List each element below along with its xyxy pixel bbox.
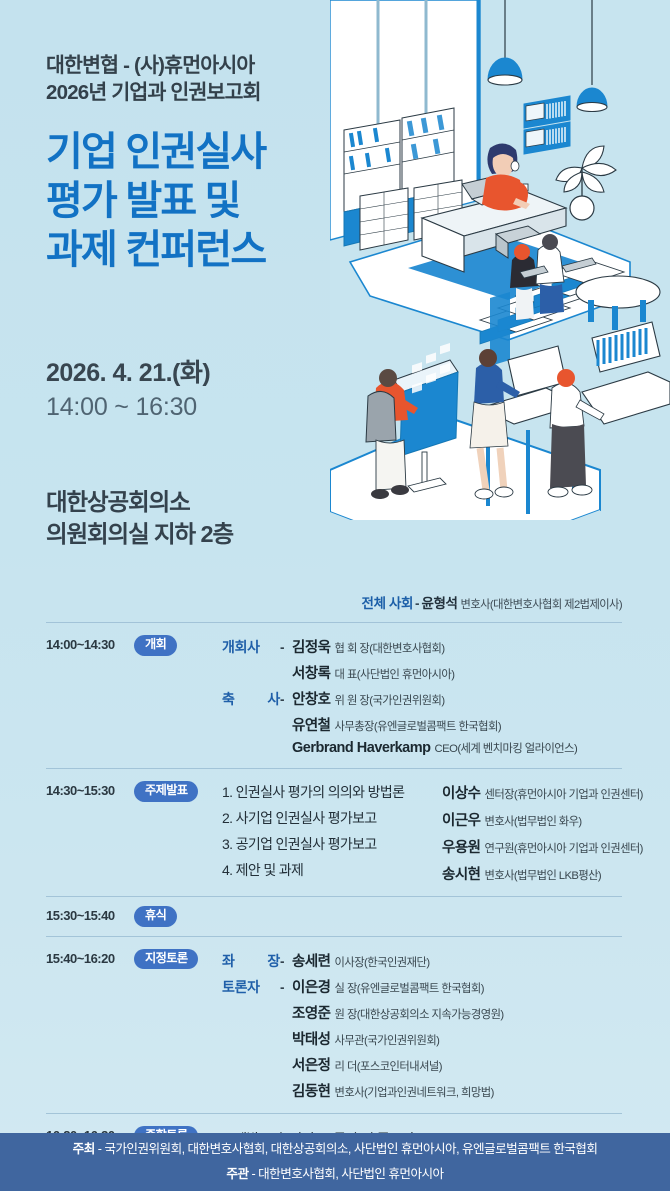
entry-person-name: 서창록 bbox=[292, 662, 331, 683]
list-item: 2. 사기업 인권실사 평가보고 bbox=[222, 808, 442, 828]
entry-person-name: 김동현 bbox=[292, 1080, 331, 1101]
table-row: 14:00~14:30 개회 개회사 - 김정욱 협 회 장(대한변호사협회) … bbox=[46, 623, 622, 768]
entry-role-head: 축 사 bbox=[222, 689, 280, 709]
moderator-role: 변호사(대한변호사협회 제2법제이사) bbox=[458, 599, 622, 611]
entry-person-title: 사무총장(유엔글로벌콤팩트 한국협회) bbox=[331, 718, 502, 734]
entry-person-title: 원 장(대한상공회의소 지속가능경영원) bbox=[331, 1006, 504, 1022]
entry-person-name: 유연철 bbox=[292, 714, 331, 735]
row-time: 14:00~14:30 bbox=[46, 635, 134, 652]
title-line-1: 기업 인권실사 bbox=[46, 128, 376, 177]
row-time: 15:40~16:20 bbox=[46, 949, 134, 966]
table-row: 15:30~15:40 휴식 bbox=[46, 897, 622, 936]
row-badges: 주제발표 bbox=[134, 781, 222, 802]
row-badges: 휴식 bbox=[134, 906, 222, 927]
table-row: 14:30~15:30 주제발표 1. 인권실사 평가의 의의와 방법론 2. … bbox=[46, 769, 622, 896]
title-line-3: 과제 컨퍼런스 bbox=[46, 226, 376, 275]
entry-person-title: 대 표(사단법인 휴먼아시아) bbox=[331, 666, 455, 682]
eyebrow-line-1: 대한변협 - (사)휴먼아시아 bbox=[46, 52, 376, 79]
hero-section: 대한변협 - (사)휴먼아시아 2026년 기업과 인권보고회 기업 인권실사 … bbox=[0, 0, 670, 580]
speaker-role: 변호사(법무법인 LKB평산) bbox=[481, 870, 602, 882]
table-row: 15:40~16:20 지정토론 좌 장 - 송세련 이사장(한국인권재단) 토… bbox=[46, 937, 622, 1113]
organizer-line: 주관 - 대한변호사협회, 사단법인 휴먼아시아 bbox=[226, 1162, 443, 1187]
list-item: 박태성 사무관(국가인권위원회) bbox=[222, 1028, 622, 1049]
speaker-name: 이상수 bbox=[442, 786, 481, 802]
list-item: 이근우변호사(법무법인 화우) bbox=[442, 809, 643, 830]
entry-person-name: 이은경 bbox=[292, 976, 331, 997]
entry-person-title: 변호사(기업과인권네트워크, 희망법) bbox=[331, 1084, 494, 1100]
event-datetime: 2026. 4. 21.(화) 14:00 ~ 16:30 bbox=[46, 358, 210, 423]
list-item: 송시현변호사(법무법인 LKB평산) bbox=[442, 863, 643, 884]
entry-person-title: 협 회 장(대한변호사협회) bbox=[331, 640, 445, 656]
entry-role-head: 토론자 bbox=[222, 977, 280, 997]
event-venue: 대한상공회의소 의원회의실 지하 2층 bbox=[46, 487, 233, 550]
status-badge: 지정토론 bbox=[134, 949, 198, 970]
row-body: 1. 인권실사 평가의 의의와 방법론 2. 사기업 인권실사 평가보고 3. … bbox=[222, 781, 643, 884]
moderator-label: 전체 사회 bbox=[362, 596, 413, 611]
list-item: 김동현 변호사(기업과인권네트워크, 희망법) bbox=[222, 1080, 622, 1101]
entry-role-head: 개회사 bbox=[222, 637, 280, 657]
speaker-role: 변호사(법무법인 화우) bbox=[481, 816, 582, 828]
talk-speakers: 이상수센터장(휴먼아시아 기업과 인권센터) 이근우변호사(법무법인 화우) 우… bbox=[442, 782, 643, 884]
speaker-role: 센터장(휴먼아시아 기업과 인권센터) bbox=[481, 789, 643, 801]
status-badge: 휴식 bbox=[134, 906, 177, 927]
list-item: 유연철 사무총장(유엔글로벌콤팩트 한국협회) bbox=[222, 714, 622, 735]
entry-person-name: 박태성 bbox=[292, 1028, 331, 1049]
row-body: 좌 장 - 송세련 이사장(한국인권재단) 토론자 - 이은경 실 장(유엔글로… bbox=[222, 949, 622, 1101]
speaker-name: 우용원 bbox=[442, 840, 481, 856]
host-dash: - bbox=[95, 1142, 105, 1156]
list-item: 서창록 대 표(사단법인 휴먼아시아) bbox=[222, 662, 622, 683]
entry-person-name: 서은정 bbox=[292, 1054, 331, 1075]
list-item: 1. 인권실사 평가의 의의와 방법론 bbox=[222, 782, 442, 802]
talk-titles: 1. 인권실사 평가의 의의와 방법론 2. 사기업 인권실사 평가보고 3. … bbox=[222, 782, 442, 884]
moderator-name: 윤형석 bbox=[421, 596, 457, 611]
organizer-organizations: 대한변호사협회, 사단법인 휴먼아시아 bbox=[258, 1167, 443, 1181]
list-item: 이상수센터장(휴먼아시아 기업과 인권센터) bbox=[442, 782, 643, 803]
list-item: 서은정 리 더(포스코인터내셔널) bbox=[222, 1054, 622, 1075]
entry-person-name: 조영준 bbox=[292, 1002, 331, 1023]
entry-person-title: 이사장(한국인권재단) bbox=[331, 954, 430, 970]
page-title: 기업 인권실사 평가 발표 및 과제 컨퍼런스 bbox=[46, 128, 376, 276]
row-time: 15:30~15:40 bbox=[46, 906, 134, 923]
hero-text-block: 대한변협 - (사)휴먼아시아 2026년 기업과 인권보고회 기업 인권실사 … bbox=[46, 52, 376, 275]
event-time: 14:00 ~ 16:30 bbox=[46, 391, 210, 424]
moderator-line: 전체 사회-윤형석변호사(대한변호사협회 제2법제이사) bbox=[0, 592, 670, 613]
title-line-2: 평가 발표 및 bbox=[46, 177, 376, 226]
isometric-office-illustration bbox=[330, 0, 670, 580]
program-schedule: 전체 사회-윤형석변호사(대한변호사협회 제2법제이사) 14:00~14:30… bbox=[0, 592, 670, 1180]
list-item: 4. 제안 및 과제 bbox=[222, 860, 442, 880]
entry-person-name: 송세련 bbox=[292, 950, 331, 971]
venue-line-2: 의원회의실 지하 2층 bbox=[46, 519, 233, 551]
entry-person-name: 안창호 bbox=[292, 688, 331, 709]
entry-person-title: 위 원 장(국가인권위원회) bbox=[331, 692, 445, 708]
host-line: 주최 - 국가인권위원회, 대한변호사협회, 대한상공회의소, 사단법인 휴먼아… bbox=[73, 1137, 598, 1162]
conference-poster: 대한변협 - (사)휴먼아시아 2026년 기업과 인권보고회 기업 인권실사 … bbox=[0, 0, 670, 1191]
venue-line-1: 대한상공회의소 bbox=[46, 487, 233, 519]
list-item: 개회사 - 김정욱 협 회 장(대한변호사협회) bbox=[222, 636, 622, 657]
list-item: 3. 공기업 인권실사 평가보고 bbox=[222, 834, 442, 854]
entry-person-title: 리 더(포스코인터내셔널) bbox=[331, 1058, 442, 1074]
list-item: 축 사 - 안창호 위 원 장(국가인권위원회) bbox=[222, 688, 622, 709]
list-item: 조영준 원 장(대한상공회의소 지속가능경영원) bbox=[222, 1002, 622, 1023]
row-body: 개회사 - 김정욱 협 회 장(대한변호사협회) 서창록 대 표(사단법인 휴먼… bbox=[222, 635, 622, 756]
entry-person-name: Gerbrand Haverkamp bbox=[292, 740, 430, 756]
host-organizations: 국가인권위원회, 대한변호사협회, 대한상공회의소, 사단법인 휴먼아시아, 유… bbox=[104, 1142, 597, 1156]
row-time: 14:30~15:30 bbox=[46, 781, 134, 798]
row-divider bbox=[46, 768, 622, 769]
entry-person-title: 실 장(유엔글로벌콤팩트 한국협회) bbox=[331, 980, 484, 996]
entry-person-title: 사무관(국가인권위원회) bbox=[331, 1032, 440, 1048]
host-label: 주최 bbox=[73, 1142, 95, 1156]
status-badge: 개회 bbox=[134, 635, 177, 656]
entry-dash: - bbox=[280, 692, 292, 707]
speaker-name: 이근우 bbox=[442, 813, 481, 829]
list-item: Gerbrand Haverkamp CEO(세계 벤치마킹 얼라이언스) bbox=[222, 740, 622, 756]
entry-role-head: 좌 장 bbox=[222, 951, 280, 971]
entry-person-name: 김정욱 bbox=[292, 636, 331, 657]
row-divider bbox=[46, 896, 622, 897]
status-badge: 주제발표 bbox=[134, 781, 198, 802]
entry-dash: - bbox=[280, 980, 292, 995]
row-body bbox=[222, 906, 622, 907]
eyebrow-line-2: 2026년 기업과 인권보고회 bbox=[46, 79, 376, 106]
poster-footer: 주최 - 국가인권위원회, 대한변호사협회, 대한상공회의소, 사단법인 휴먼아… bbox=[0, 1133, 670, 1191]
organizer-dash: - bbox=[249, 1167, 259, 1181]
list-item: 토론자 - 이은경 실 장(유엔글로벌콤팩트 한국협회) bbox=[222, 976, 622, 997]
row-divider bbox=[46, 622, 622, 623]
entry-dash: - bbox=[280, 640, 292, 655]
row-divider bbox=[46, 1113, 622, 1114]
row-divider bbox=[46, 936, 622, 937]
row-badges: 개회 bbox=[134, 635, 222, 656]
schedule-rows: 14:00~14:30 개회 개회사 - 김정욱 협 회 장(대한변호사협회) … bbox=[0, 622, 670, 1180]
row-badges: 지정토론 bbox=[134, 949, 222, 970]
speaker-role: 연구원(휴먼아시아 기업과 인권센터) bbox=[481, 843, 643, 855]
list-item: 좌 장 - 송세련 이사장(한국인권재단) bbox=[222, 950, 622, 971]
list-item: 우용원연구원(휴먼아시아 기업과 인권센터) bbox=[442, 836, 643, 857]
speaker-name: 송시현 bbox=[442, 867, 481, 883]
entry-person-title: CEO(세계 벤치마킹 얼라이언스) bbox=[430, 740, 577, 756]
event-date: 2026. 4. 21.(화) bbox=[46, 358, 210, 389]
organizer-label: 주관 bbox=[226, 1167, 248, 1181]
entry-dash: - bbox=[280, 954, 292, 969]
